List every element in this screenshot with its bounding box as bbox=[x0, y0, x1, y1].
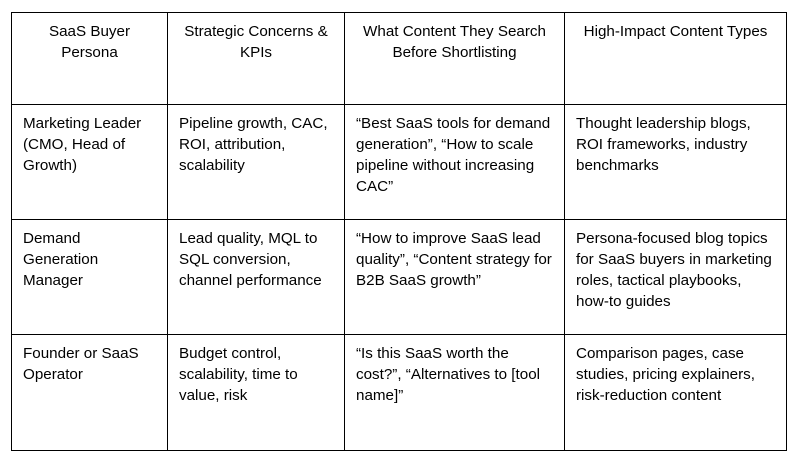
column-header-content-types: High-Impact Content Types bbox=[565, 13, 787, 105]
column-header-concerns: Strategic Concerns & KPIs bbox=[168, 13, 345, 105]
cell-content-types: Comparison pages, case studies, pricing … bbox=[565, 335, 787, 451]
cell-concerns: Budget control, scalability, time to val… bbox=[168, 335, 345, 451]
table-header-row: SaaS Buyer Persona Strategic Concerns & … bbox=[12, 13, 787, 105]
cell-concerns: Lead quality, MQL to SQL conversion, cha… bbox=[168, 220, 345, 335]
cell-search: “Best SaaS tools for demand generation”,… bbox=[345, 105, 565, 220]
cell-search: “Is this SaaS worth the cost?”, “Alterna… bbox=[345, 335, 565, 451]
table-row: Founder or SaaS Operator Budget control,… bbox=[12, 335, 787, 451]
table-row: Demand Generation Manager Lead quality, … bbox=[12, 220, 787, 335]
table-body: Marketing Leader (CMO, Head of Growth) P… bbox=[12, 105, 787, 451]
column-header-search: What Content They Search Before Shortlis… bbox=[345, 13, 565, 105]
saas-buyer-persona-table: SaaS Buyer Persona Strategic Concerns & … bbox=[11, 12, 787, 451]
cell-persona: Demand Generation Manager bbox=[12, 220, 168, 335]
column-header-persona: SaaS Buyer Persona bbox=[12, 13, 168, 105]
page-root: SaaS Buyer Persona Strategic Concerns & … bbox=[0, 0, 801, 459]
cell-persona: Marketing Leader (CMO, Head of Growth) bbox=[12, 105, 168, 220]
cell-persona: Founder or SaaS Operator bbox=[12, 335, 168, 451]
table-header: SaaS Buyer Persona Strategic Concerns & … bbox=[12, 13, 787, 105]
cell-search: “How to improve SaaS lead quality”, “Con… bbox=[345, 220, 565, 335]
cell-concerns: Pipeline growth, CAC, ROI, attribution, … bbox=[168, 105, 345, 220]
cell-content-types: Thought leadership blogs, ROI frameworks… bbox=[565, 105, 787, 220]
cell-content-types: Persona-focused blog topics for SaaS buy… bbox=[565, 220, 787, 335]
table-row: Marketing Leader (CMO, Head of Growth) P… bbox=[12, 105, 787, 220]
